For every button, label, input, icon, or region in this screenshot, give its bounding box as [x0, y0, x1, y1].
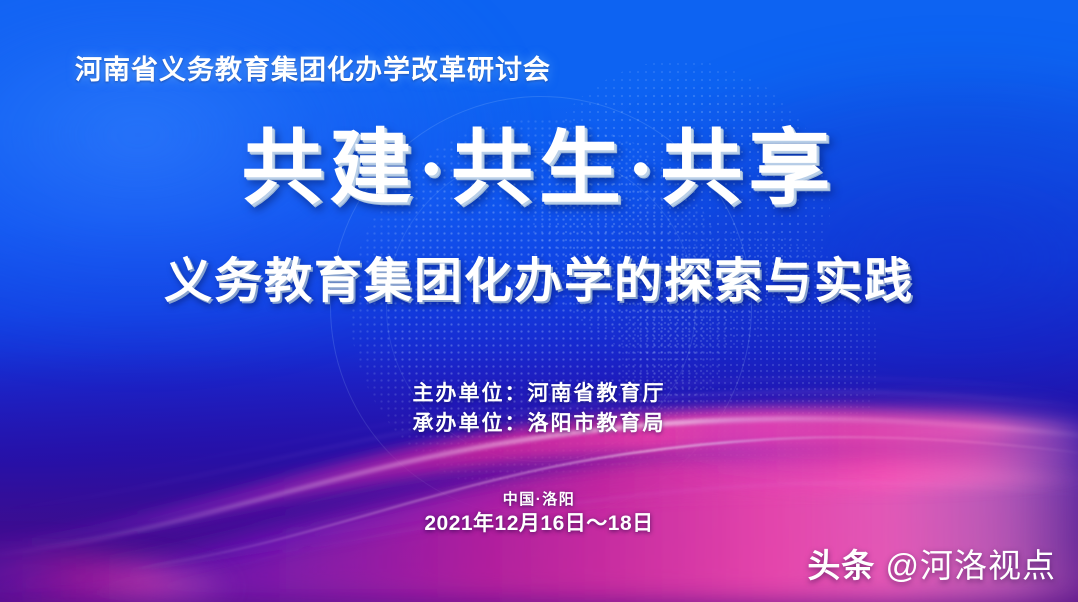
- watermark-handle: @河洛视点: [886, 547, 1057, 584]
- page-title: 共建·共生·共享: [0, 128, 1078, 210]
- event-poster: 河南省义务教育集团化办学改革研讨会 共建·共生·共享 义务教育集团化办学的探索与…: [0, 0, 1078, 602]
- venue-date: 2021年12月16日～18日: [0, 510, 1078, 537]
- organizer-coordinator-line: 承办单位：洛阳市教育局: [0, 409, 1078, 439]
- watermark-brand: 头条: [807, 547, 875, 584]
- conference-header-line: 河南省义务教育集团化办学改革研讨会: [75, 48, 551, 87]
- organizer-host-line: 主办单位：河南省教育厅: [0, 379, 1078, 409]
- watermark: 头条 @河洛视点: [807, 544, 1056, 588]
- venue-city: 中国·洛阳: [0, 489, 1078, 510]
- organizer-block: 主办单位：河南省教育厅 承办单位：洛阳市教育局: [0, 379, 1078, 439]
- page-subtitle: 义务教育集团化办学的探索与实践: [0, 258, 1078, 306]
- venue-block: 中国·洛阳 2021年12月16日～18日: [0, 489, 1078, 537]
